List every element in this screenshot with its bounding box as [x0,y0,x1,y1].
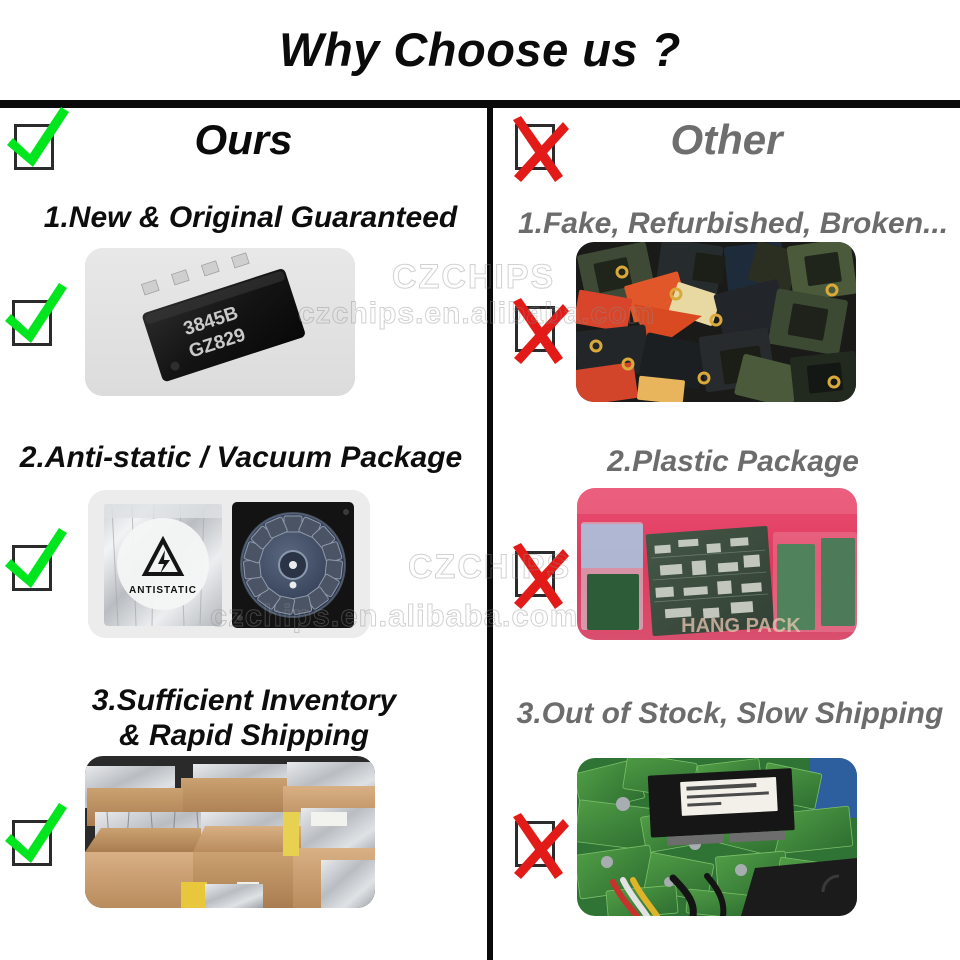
check-mark-icon [1,281,71,355]
column-heading-ours: Ours [0,116,517,164]
scrap-pcb-pile-photo [577,758,857,916]
feature-label-ours-3: 3.Sufficient Inventory & Rapid Shipping [14,683,474,754]
feature-label-other-2: 2.Plastic Package [503,444,960,479]
page-title: Why Choose us ? [0,22,960,77]
check-box-ours-3 [12,820,52,866]
plastic-package-overlay-text: HANG PACK [681,615,801,637]
feature-label-other-3: 3.Out of Stock, Slow Shipping [499,696,960,731]
x-mark-icon [505,114,571,186]
check-box-ours-2 [12,545,52,591]
feature-label-other-1: 1.Fake, Refurbished, Broken... [503,206,960,241]
x-box-other-1 [515,306,555,352]
feature-label-ours-1: 1.New & Original Guaranteed [18,200,483,235]
check-box-ours-1 [12,300,52,346]
x-mark-icon [505,296,571,368]
x-box-other-3 [515,821,555,867]
scrap-chips-photo [576,242,856,402]
warehouse-boxes-photo [85,756,375,908]
x-mark-icon [505,541,571,613]
check-mark-icon [1,801,71,875]
ic-chip-photo: 3845B GZ829 [85,248,355,396]
column-ours: Ours 1.New & Original Guaranteed [0,108,487,960]
header-divider-rule [0,100,960,108]
check-box-heading-ours [14,124,54,170]
check-mark-icon [1,526,71,600]
feature-label-ours-2: 2.Anti-static / Vacuum Package [6,440,476,475]
x-box-heading-other [515,124,555,170]
column-other: Other 1.Fake, Refurbished, Broken... [493,108,960,960]
plastic-package-photo: HANG PACK [577,488,857,640]
x-box-other-2 [515,551,555,597]
antistatic-bag-label: ANTISTATIC [129,585,197,596]
antistatic-vacuum-package-photo: ANTISTATIC [88,490,370,638]
check-mark-icon [3,105,73,179]
x-mark-icon [505,811,571,883]
